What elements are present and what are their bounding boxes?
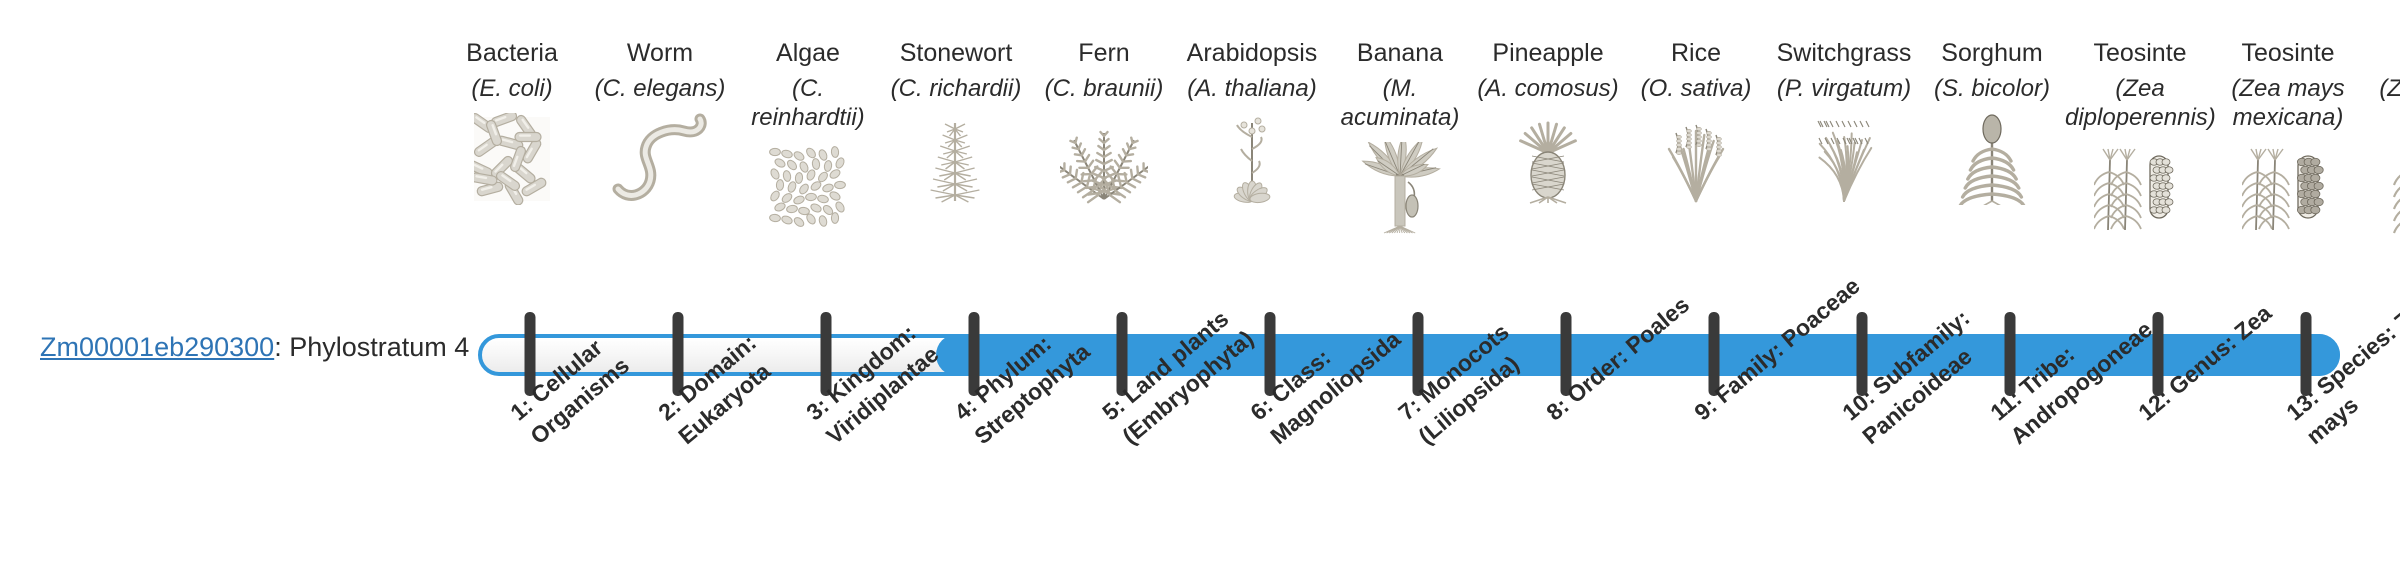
species-common-name: Teosinte [2213, 38, 2363, 68]
species-column-4: Stonewort(C. richardii) [881, 38, 1031, 205]
gene-separator: : [274, 332, 289, 362]
species-column-8: Pineapple(A. comosus) [1473, 38, 1623, 205]
species-scientific-name: (C. elegans) [585, 74, 735, 103]
worm-icon [585, 109, 735, 205]
species-scientific-name: (O. sativa) [1621, 74, 1771, 103]
species-column-3: Algae(C. reinhardtii) [733, 38, 883, 234]
phylostratum-timeline: Zm00001eb290300: Phylostratum 4 Bacteria… [0, 0, 2400, 580]
species-common-name: Switchgrass [1769, 38, 1919, 68]
species-common-name: Rice [1621, 38, 1771, 68]
teosinte-mexicana-icon [2213, 138, 2363, 234]
species-common-name: Teosinte [2065, 38, 2215, 68]
species-column-14: Maize(Zea mays mays) [2361, 38, 2400, 234]
species-scientific-name: (Zea mays mays) [2361, 74, 2400, 132]
species-column-2: Worm(C. elegans) [585, 38, 735, 205]
species-common-name: Fern [1029, 38, 1179, 68]
species-column-11: Sorghum(S. bicolor) [1917, 38, 2067, 205]
species-common-name: Arabidopsis [1177, 38, 1327, 68]
species-scientific-name: (C. richardii) [881, 74, 1031, 103]
species-common-name: Algae [733, 38, 883, 68]
bacteria-icon [437, 109, 587, 205]
species-column-9: Rice(O. sativa) [1621, 38, 1771, 205]
species-common-name: Banana [1325, 38, 1475, 68]
switchgrass-icon [1769, 109, 1919, 205]
maize-icon [2361, 138, 2400, 234]
algae-icon [733, 138, 883, 234]
phylostratum-value: Phylostratum 4 [289, 332, 469, 362]
species-scientific-name: (C. braunii) [1029, 74, 1179, 103]
species-common-name: Maize [2361, 38, 2400, 68]
species-scientific-name: (C. reinhardtii) [733, 74, 883, 132]
species-column-10: Switchgrass(P. virgatum) [1769, 38, 1919, 205]
arabidopsis-icon [1177, 109, 1327, 205]
species-common-name: Sorghum [1917, 38, 2067, 68]
pineapple-icon [1473, 109, 1623, 205]
species-column-5: Fern(C. braunii) [1029, 38, 1179, 205]
species-scientific-name: (Zea mays mexicana) [2213, 74, 2363, 132]
species-scientific-name: (P. virgatum) [1769, 74, 1919, 103]
species-column-13: Teosinte(Zea mays mexicana) [2213, 38, 2363, 234]
banana-icon [1325, 138, 1475, 234]
species-scientific-name: (E. coli) [437, 74, 587, 103]
species-scientific-name: (S. bicolor) [1917, 74, 2067, 103]
species-common-name: Pineapple [1473, 38, 1623, 68]
sorghum-icon [1917, 109, 2067, 205]
teosinte-diploperennis-icon [2065, 138, 2215, 234]
species-column-6: Arabidopsis(A. thaliana) [1177, 38, 1327, 205]
species-scientific-name: (A. comosus) [1473, 74, 1623, 103]
gene-id-link[interactable]: Zm00001eb290300 [40, 332, 274, 362]
species-column-12: Teosinte(Zea diploperennis) [2065, 38, 2215, 234]
species-scientific-name: (A. thaliana) [1177, 74, 1327, 103]
rice-icon [1621, 109, 1771, 205]
species-common-name: Stonewort [881, 38, 1031, 68]
species-scientific-name: (Zea diploperennis) [2065, 74, 2215, 132]
species-common-name: Worm [585, 38, 735, 68]
fern-icon [1029, 109, 1179, 205]
species-scientific-name: (M. acuminata) [1325, 74, 1475, 132]
species-common-name: Bacteria [437, 38, 587, 68]
species-column-7: Banana(M. acuminata) [1325, 38, 1475, 234]
species-column-1: Bacteria(E. coli) [437, 38, 587, 205]
stonewort-icon [881, 109, 1031, 205]
gene-phylostratum-label: Zm00001eb290300: Phylostratum 4 [40, 330, 460, 364]
